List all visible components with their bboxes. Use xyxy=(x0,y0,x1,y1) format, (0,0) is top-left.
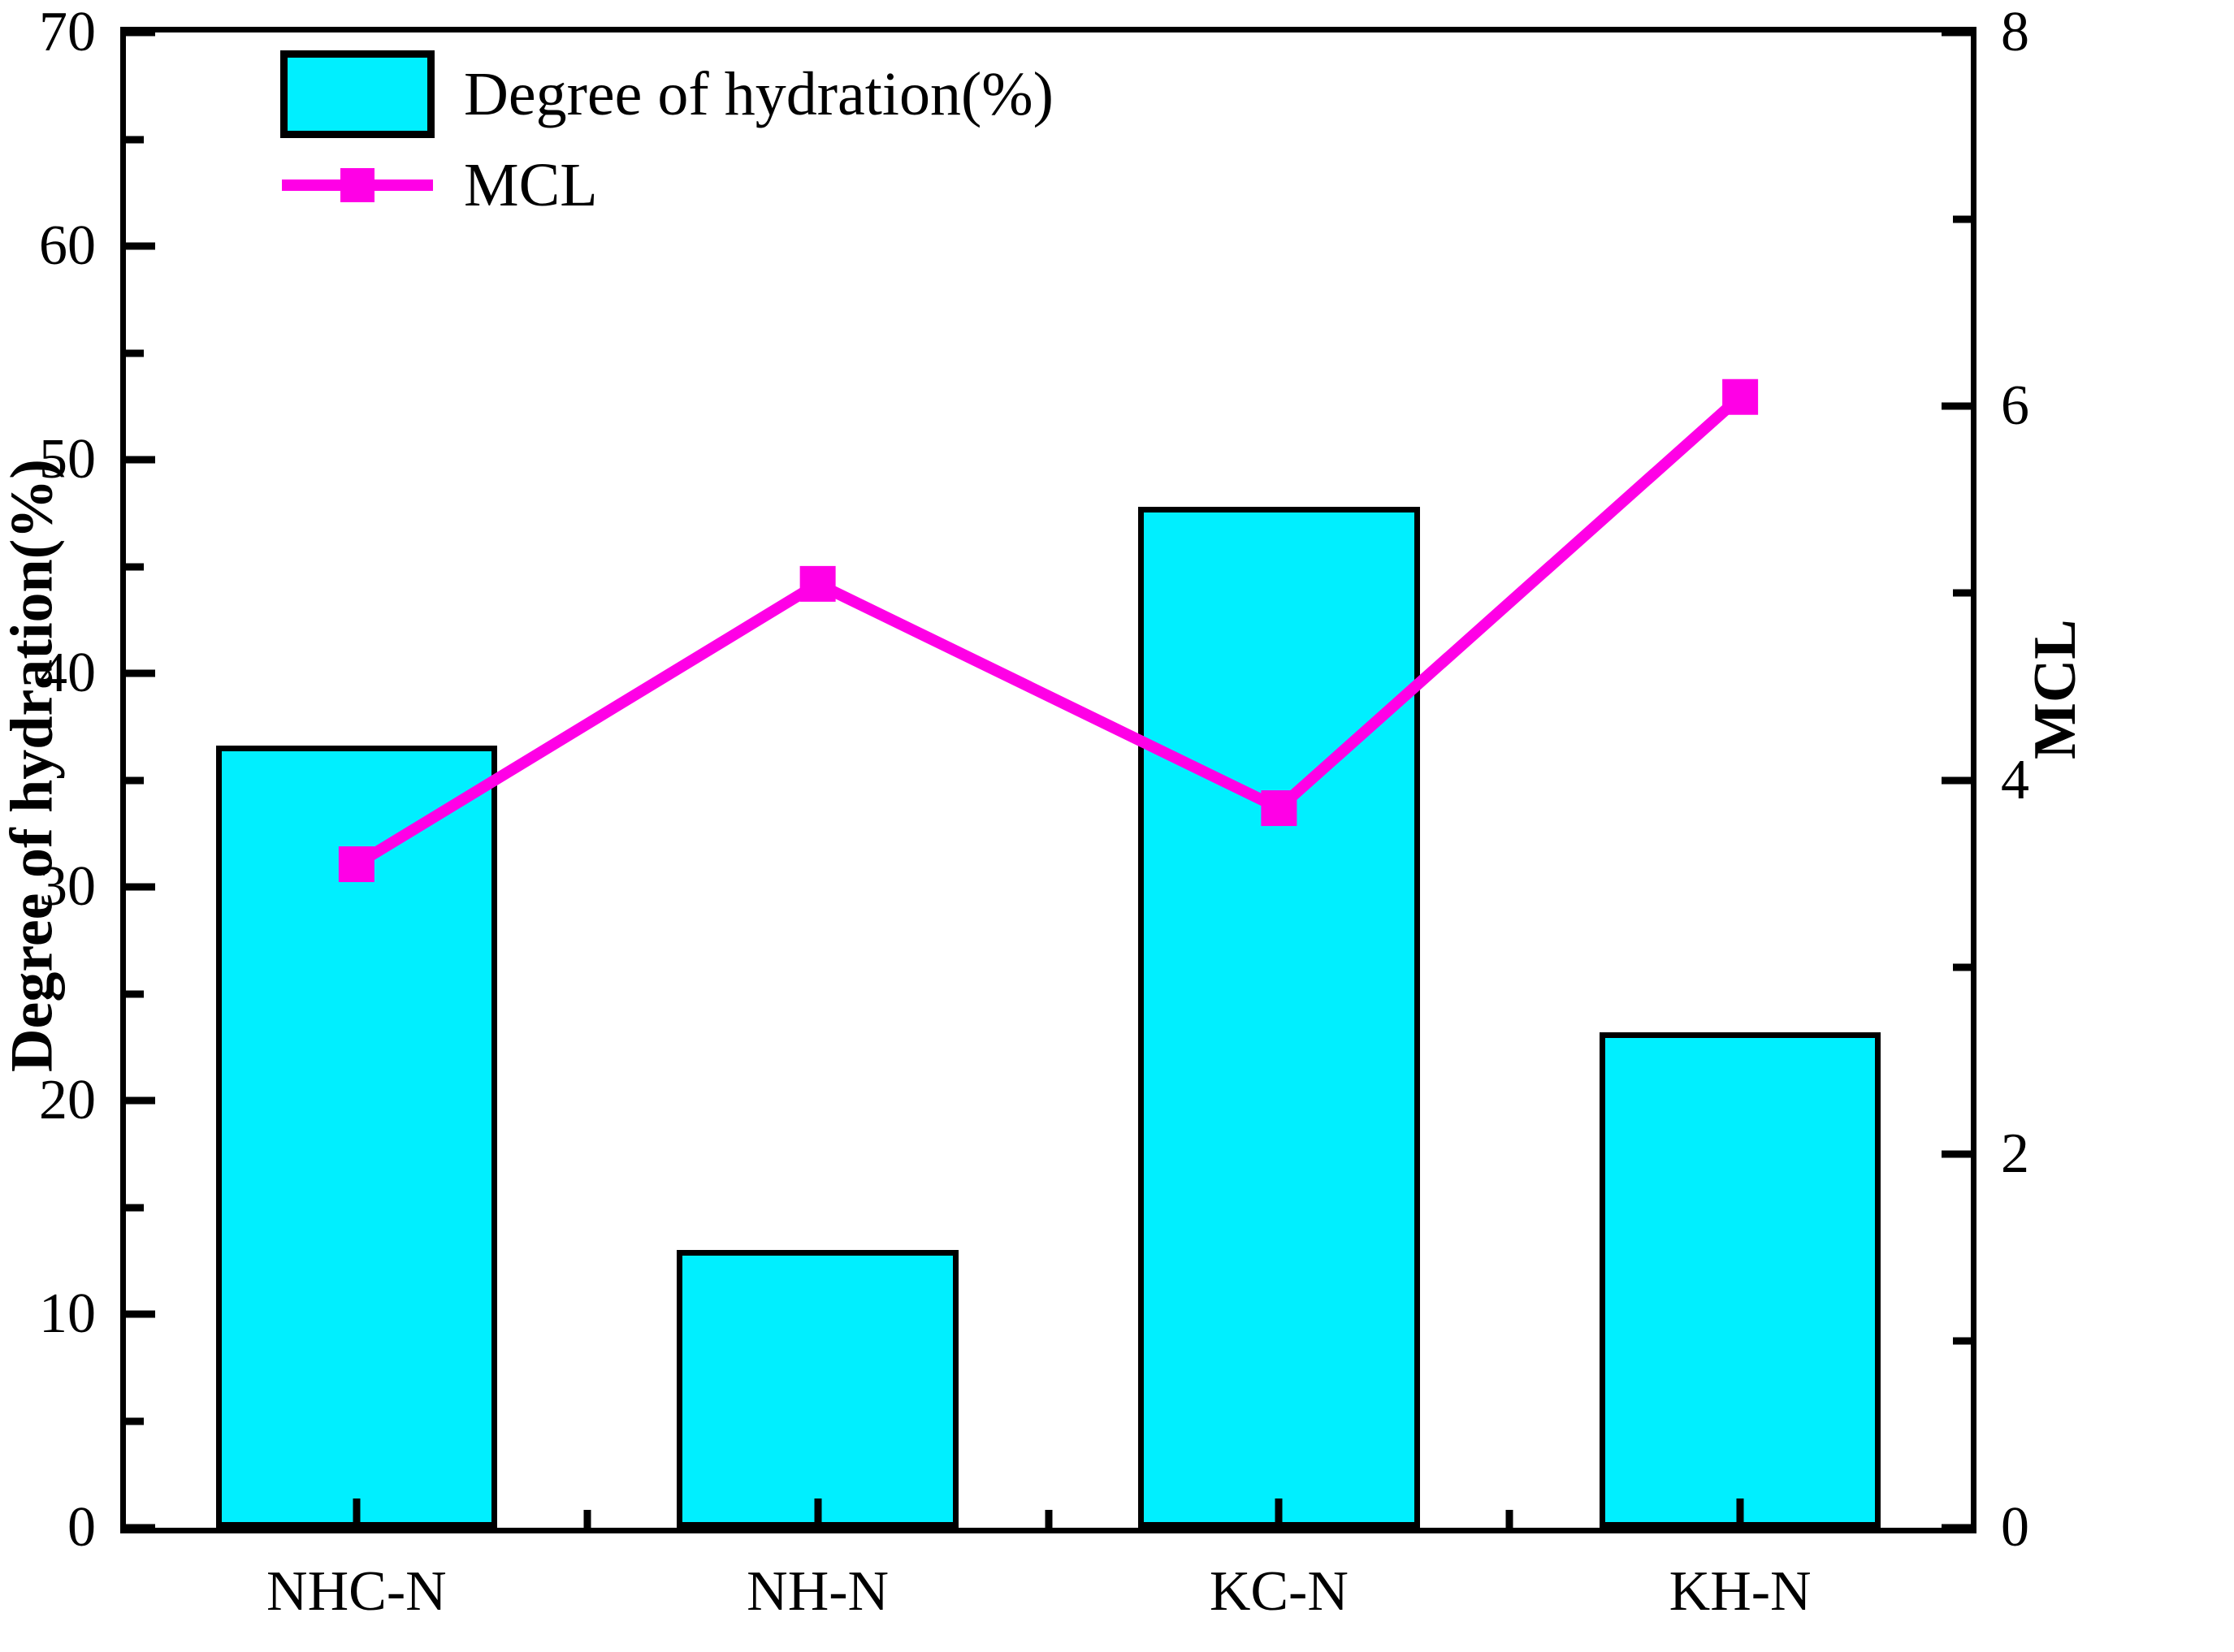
y-axis-right-tick-minor xyxy=(1953,1337,1971,1344)
y-axis-left-tick-minor xyxy=(126,990,144,997)
y-axis-right-tick-major xyxy=(1942,1524,1971,1532)
y-axis-left-tick-minor xyxy=(126,563,144,570)
y-axis-right-tick-label: 8 xyxy=(2001,4,2029,61)
x-axis-tick-minor xyxy=(583,1510,591,1528)
x-axis-tick-minor xyxy=(1506,1510,1513,1528)
y-axis-right-tick-major xyxy=(1942,29,1971,37)
y-axis-left-tick-label: 20 xyxy=(39,1072,96,1129)
x-axis-category-label: NHC-N xyxy=(266,1559,447,1624)
legend-label-mcl: MCL xyxy=(464,154,598,216)
x-axis-category-label: KH-N xyxy=(1669,1559,1812,1624)
x-axis-tick-major xyxy=(1737,1498,1744,1528)
y-axis-right-tick-major xyxy=(1942,1150,1971,1157)
y-axis-right-tick-major xyxy=(1942,776,1971,784)
axis-ticks-layer xyxy=(126,32,1971,1528)
y-axis-left-tick-minor xyxy=(126,776,144,784)
y-axis-left-tick-label: 0 xyxy=(67,1499,96,1556)
y-axis-left-tick-minor xyxy=(126,136,144,143)
y-axis-left-tick-major xyxy=(126,1311,155,1318)
legend-item-degree-of-hydration: Degree of hydration(%) xyxy=(280,49,1336,140)
legend-item-mcl: MCL xyxy=(280,140,1336,231)
y-axis-right-tick-label: 0 xyxy=(2001,1499,2029,1556)
x-axis-category-label: KC-N xyxy=(1210,1559,1349,1624)
y-axis-left-tick-minor xyxy=(126,1204,144,1211)
plot-area: Degree of hydration(%) MCL xyxy=(120,27,1976,1533)
legend-line-marker-icon xyxy=(280,141,435,229)
legend-bar-swatch-icon xyxy=(280,50,435,138)
x-axis-tick-major xyxy=(353,1498,360,1528)
y-axis-left-tick-minor xyxy=(126,1417,144,1425)
y-axis-right-tick-label: 4 xyxy=(2001,752,2029,809)
y-axis-left-tick-label: 40 xyxy=(39,645,96,702)
y-axis-right-tick-minor xyxy=(1953,963,1971,971)
y-axis-left-tick-major xyxy=(126,456,155,464)
y-axis-left-tick-major xyxy=(126,670,155,677)
y-axis-right-tick-label: 2 xyxy=(2001,1126,2029,1183)
x-axis-tick-major xyxy=(814,1498,821,1528)
y-axis-left-tick-major xyxy=(126,1097,155,1105)
y-axis-left-tick-label: 50 xyxy=(39,431,96,488)
y-axis-left-ticklabels: 010203040506070 xyxy=(0,0,96,1652)
y-axis-left-tick-minor xyxy=(126,349,144,357)
legend-label-degree-of-hydration: Degree of hydration(%) xyxy=(464,63,1054,125)
y-axis-left-tick-label: 60 xyxy=(39,218,96,275)
y-axis-right-tick-label: 6 xyxy=(2001,378,2029,435)
y-axis-left-tick-major xyxy=(126,1524,155,1532)
y-axis-left-tick-label: 10 xyxy=(39,1286,96,1343)
y-axis-left-tick-major xyxy=(126,29,155,37)
y-axis-right-ticklabels: 02468 xyxy=(2001,0,2106,1652)
y-axis-left-tick-label: 70 xyxy=(39,4,96,61)
y-axis-left-tick-label: 30 xyxy=(39,858,96,915)
y-axis-right-tick-minor xyxy=(1953,590,1971,597)
y-axis-right-tick-major xyxy=(1942,403,1971,410)
y-axis-right-tick-minor xyxy=(1953,216,1971,223)
chart-container: Degree of hydration(%) MCL 0102030405060… xyxy=(0,0,2234,1652)
x-axis-category-label: NH-N xyxy=(747,1559,889,1624)
y-axis-left-tick-major xyxy=(126,884,155,891)
y-axis-left-tick-major xyxy=(126,243,155,250)
x-axis-tick-minor xyxy=(1045,1510,1052,1528)
chart-legend: Degree of hydration(%) MCL xyxy=(280,49,1336,231)
x-axis-tick-major xyxy=(1275,1498,1283,1528)
